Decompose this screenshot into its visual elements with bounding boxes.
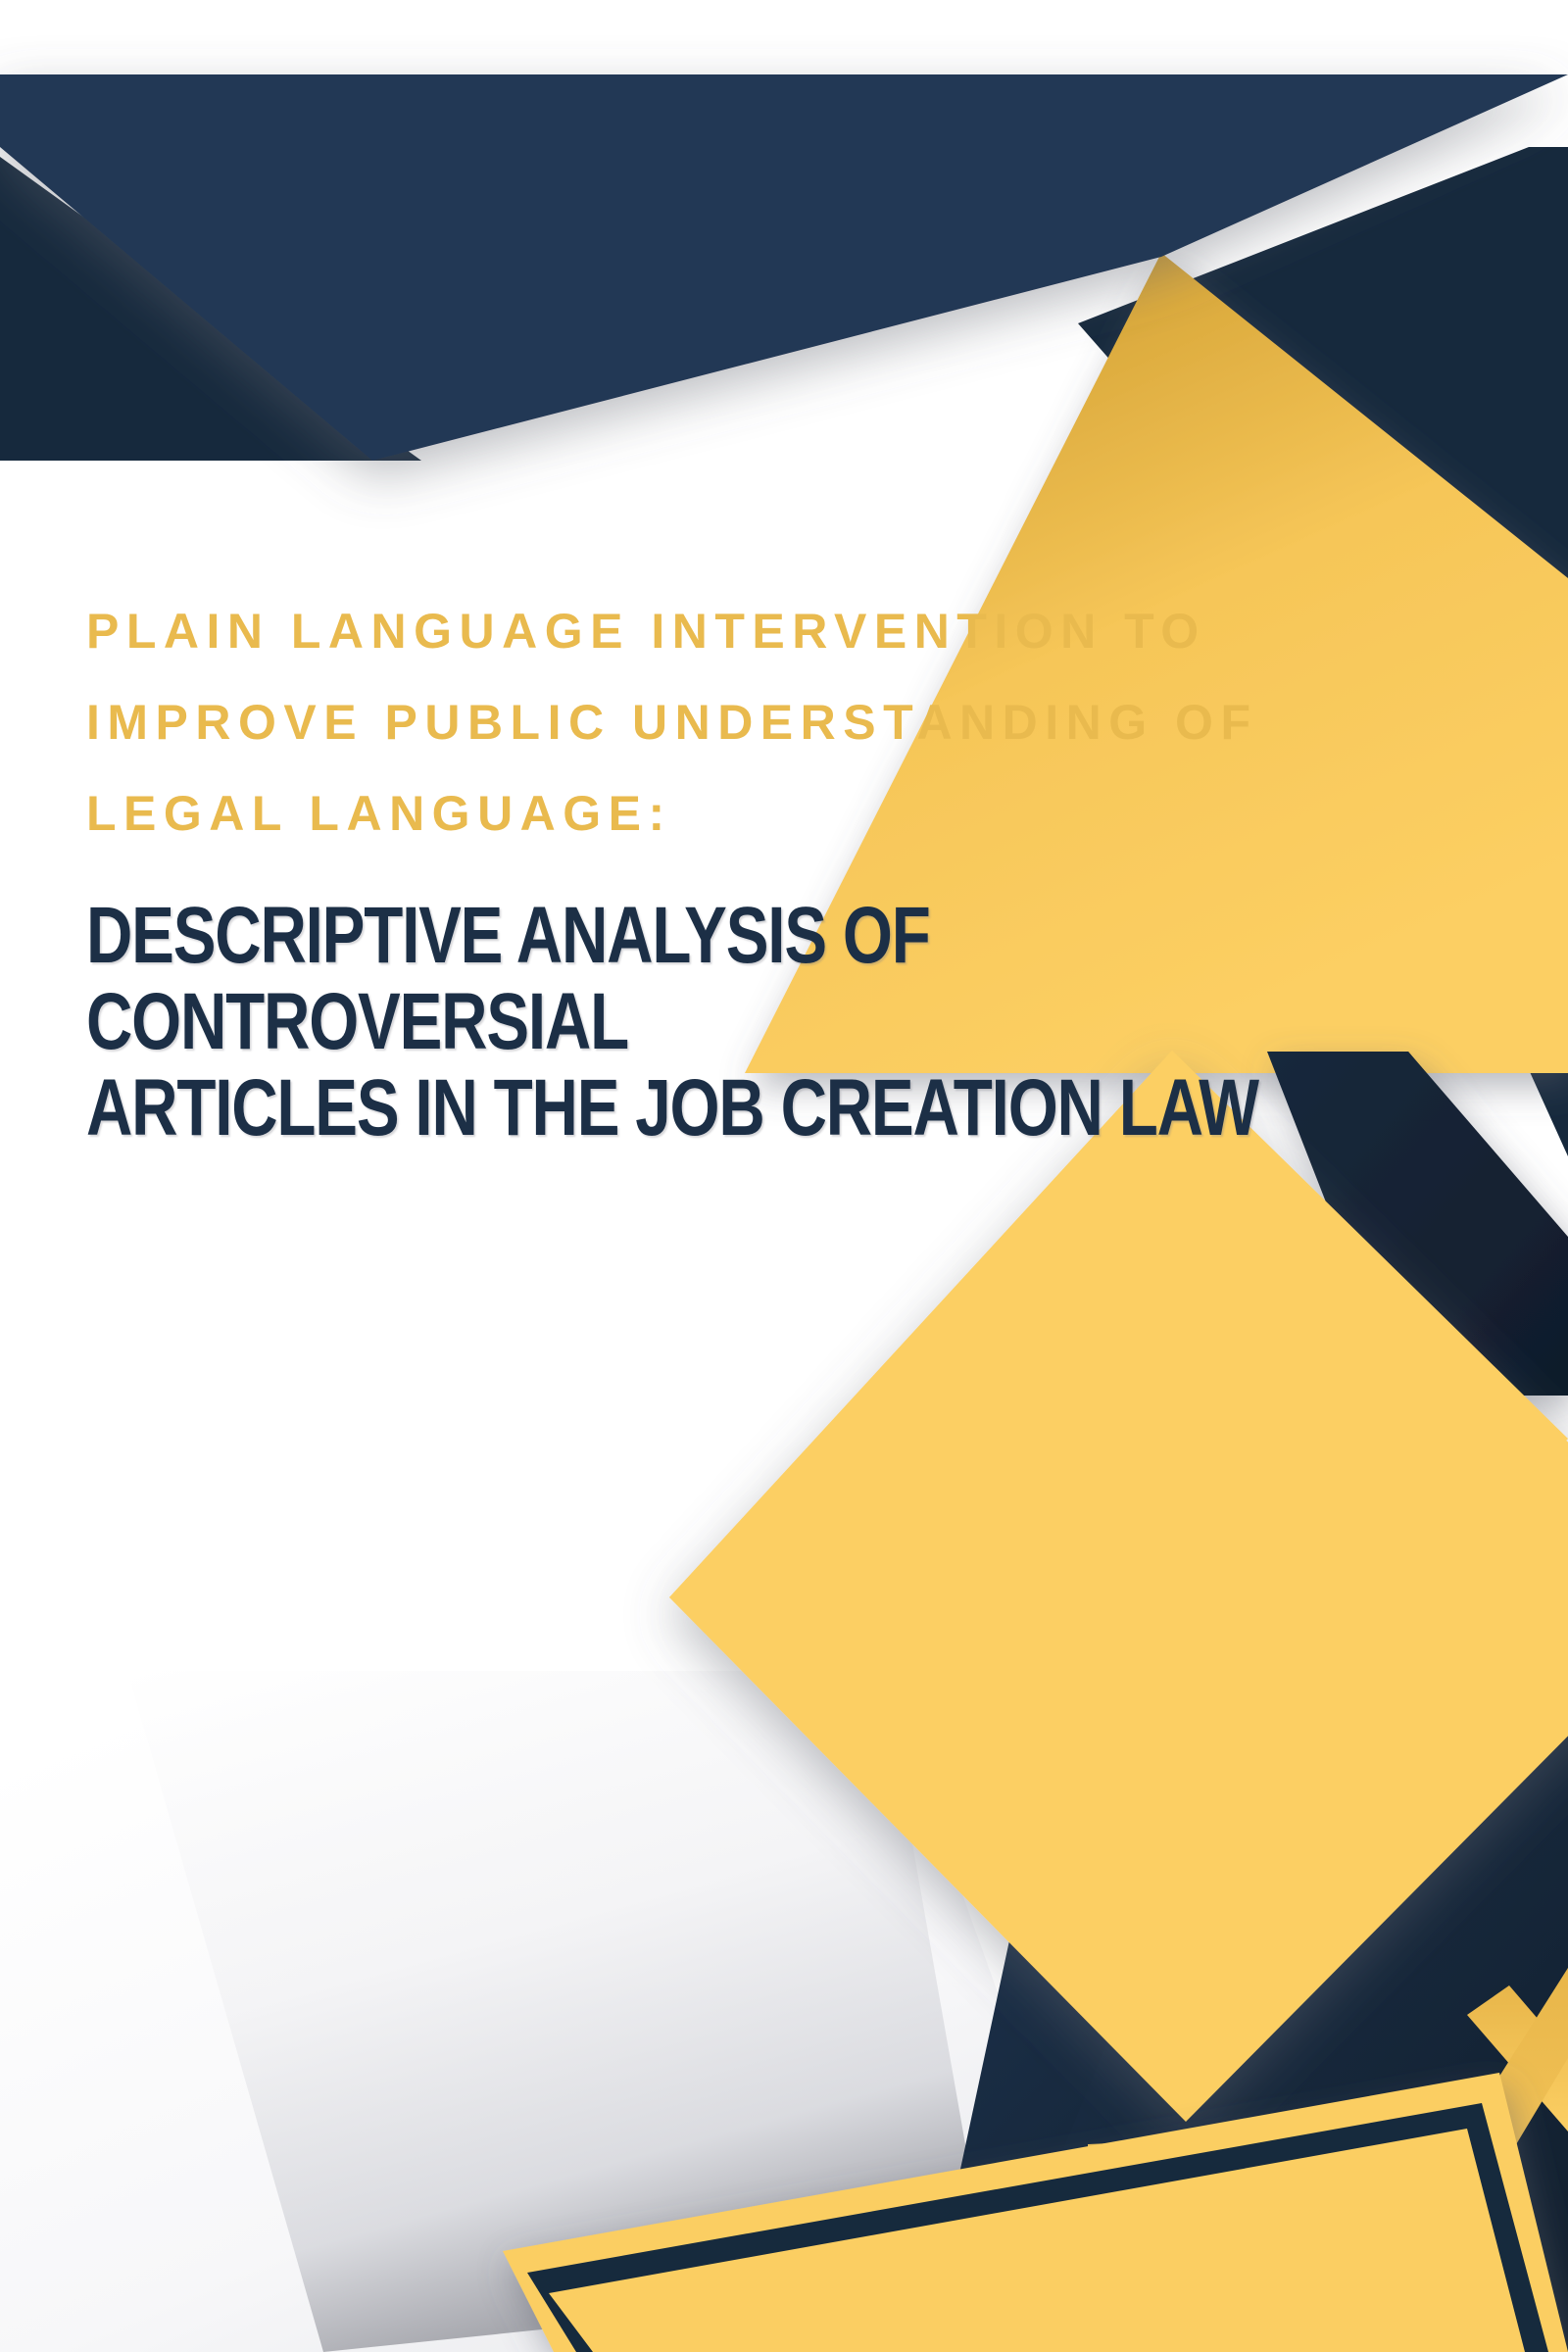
cover-main-title: DESCRIPTIVE ANALYSIS OF CONTROVERSIAL AR… — [86, 893, 1482, 1151]
book-cover-page: PLAIN LANGUAGE INTERVENTION TO IMPROVE P… — [0, 0, 1568, 2352]
title-block: PLAIN LANGUAGE INTERVENTION TO IMPROVE P… — [86, 586, 1488, 1151]
cover-eyebrow-subtitle: PLAIN LANGUAGE INTERVENTION TO IMPROVE P… — [86, 586, 1478, 859]
cover-artwork — [0, 0, 1568, 2352]
